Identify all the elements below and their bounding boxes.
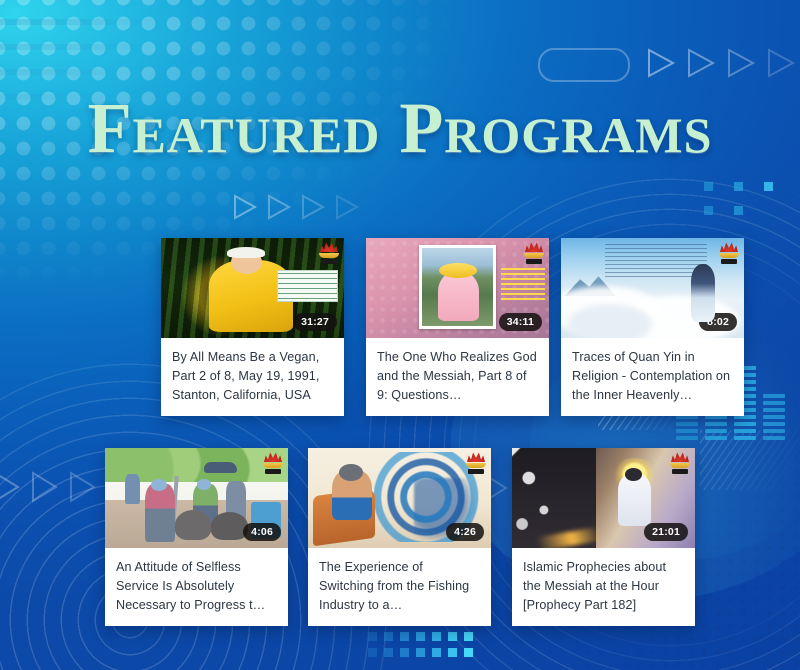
program-thumbnail[interactable]: 21:01 [512,448,695,548]
lotus-emblem-icon [670,451,690,473]
pill-outline-shape [538,48,630,82]
program-title: The Experience of Switching from the Fis… [308,548,491,626]
duration-badge: 31:27 [293,313,337,331]
program-thumbnail[interactable]: 4:06 [105,448,288,548]
play-triangle-icon [30,470,60,504]
program-thumbnail[interactable]: 4:26 [308,448,491,548]
lotus-emblem-icon [466,451,486,473]
featured-programs-banner: Featured Programs 31:27 By All Means Be … [0,0,800,670]
play-triangle-icon [766,47,796,79]
program-card[interactable]: 8:02 Traces of Quan Yin in Religion - Co… [561,238,744,416]
program-card[interactable]: 31:27 By All Means Be a Vegan, Part 2 of… [161,238,344,416]
page-title: Featured Programs [0,92,800,164]
duration-badge: 34:11 [499,313,542,331]
program-card[interactable]: 34:11 The One Who Realizes God and the M… [366,238,549,416]
program-thumbnail[interactable]: 31:27 [161,238,344,338]
program-title: An Attitude of Selfless Service Is Absol… [105,548,288,626]
play-triangle-icon [646,47,676,79]
program-title: By All Means Be a Vegan, Part 2 of 8, Ma… [161,338,344,416]
program-card[interactable]: 4:06 An Attitude of Selfless Service Is … [105,448,288,626]
program-thumbnail[interactable]: 8:02 [561,238,744,338]
play-triangle-icon [266,193,292,221]
program-title: Traces of Quan Yin in Religion - Contemp… [561,338,744,416]
play-triangle-icon [686,47,716,79]
play-triangle-icon [300,193,326,221]
program-title: Islamic Prophecies about the Messiah at … [512,548,695,626]
play-triangle-icon [0,470,22,504]
duration-badge: 21:01 [644,523,688,541]
play-triangle-icon [232,193,258,221]
lotus-emblem-icon [719,241,739,263]
bottom-square-grid [368,632,480,664]
lotus-emblem-icon [524,241,544,263]
play-triangle-icon [334,193,360,221]
duration-badge: 4:26 [446,523,484,541]
program-card[interactable]: 4:26 The Experience of Switching from th… [308,448,491,626]
program-thumbnail[interactable]: 34:11 [366,238,549,338]
program-title: The One Who Realizes God and the Messiah… [366,338,549,416]
lotus-emblem-icon [263,451,283,473]
lotus-emblem-icon [319,241,339,263]
play-triangle-icon [726,47,756,79]
program-card[interactable]: 21:01 Islamic Prophecies about the Messi… [512,448,695,626]
play-triangle-icon [68,470,98,504]
duration-badge: 4:06 [243,523,281,541]
right-square-grid [704,182,794,230]
